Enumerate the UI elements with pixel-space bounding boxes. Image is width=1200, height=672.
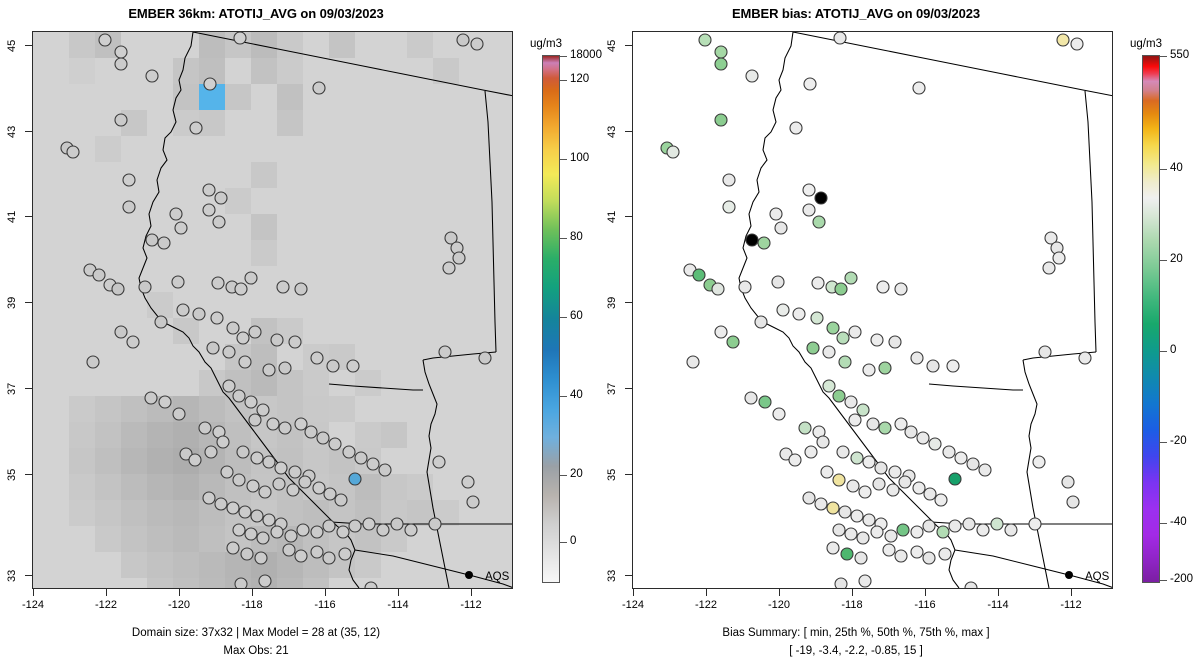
model-caption-line1: Domain size: 37x32 | Max Model = 28 at (… [0, 627, 512, 639]
bias-colorbar-unit: ug/m3 [1130, 38, 1162, 50]
map-plot-model[interactable]: AQS [32, 31, 513, 589]
y-tick-label-bias-35: 35 [606, 465, 618, 481]
map-plot-bias[interactable]: AQS [632, 31, 1113, 589]
x-tick-m112 [471, 589, 472, 596]
aqs-legend-dot-bias [1065, 571, 1073, 579]
bias-cb-tick-0 [1159, 351, 1167, 352]
y-tick-43 [25, 131, 32, 132]
x-tick-bias-m114 [998, 589, 999, 596]
model-cb-label-80: 80 [570, 231, 583, 243]
model-map-svg: AQS [33, 32, 513, 589]
bias-cb-label-0: 0 [1170, 344, 1176, 356]
y-tick-label-43: 43 [6, 122, 18, 138]
bias-cb-label-550: 550 [1170, 49, 1189, 61]
y-tick-label-35: 35 [6, 465, 18, 481]
model-cb-tick-18000 [559, 56, 567, 57]
x-tick-label-bias-m112: -112 [1051, 599, 1091, 611]
panel-bias-title: EMBER bias: ATOTIJ_AVG on 09/03/2023 [600, 6, 1112, 21]
x-tick-bias-m112 [1071, 589, 1072, 596]
y-tick-label-bias-33: 33 [606, 566, 618, 582]
bias-cb-tick-550 [1159, 56, 1167, 57]
y-tick-bias-37 [625, 388, 632, 389]
aqs-legend-label: AQS [485, 571, 510, 583]
panel-model-title: EMBER 36km: ATOTIJ_AVG on 09/03/2023 [0, 6, 512, 21]
x-tick-label-bias-m120: -120 [759, 599, 799, 611]
x-tick-label-m124: -124 [13, 599, 53, 611]
y-tick-label-37: 37 [6, 379, 18, 395]
bias-colorbar-gradient [1143, 56, 1159, 582]
y-tick-39 [25, 302, 32, 303]
y-tick-label-45: 45 [6, 36, 18, 52]
y-tick-label-33: 33 [6, 566, 18, 582]
y-tick-label-41: 41 [6, 207, 18, 223]
x-tick-label-bias-m114: -114 [978, 599, 1018, 611]
raster-cells [69, 32, 459, 589]
x-tick-m116 [325, 589, 326, 596]
bias-cb-label-m200: -200 [1170, 573, 1193, 585]
y-tick-label-bias-37: 37 [606, 379, 618, 395]
model-cb-tick-80 [559, 238, 567, 239]
bias-colorbar-bar [1142, 55, 1160, 583]
bias-cb-tick-m40 [1159, 523, 1167, 524]
y-tick-bias-41 [625, 216, 632, 217]
x-tick-label-m118: -118 [232, 599, 272, 611]
model-colorbar-gradient [543, 56, 559, 582]
panel-model: EMBER 36km: ATOTIJ_AVG on 09/03/2023 45 … [0, 0, 600, 672]
x-tick-m120 [179, 589, 180, 596]
x-tick-label-bias-m122: -122 [686, 599, 726, 611]
x-tick-m114 [398, 589, 399, 596]
bias-cb-label-40: 40 [1170, 162, 1183, 174]
x-tick-m124 [33, 589, 34, 596]
aqs-legend-label-bias: AQS [1085, 571, 1110, 583]
bias-map-svg: AQS [633, 32, 1113, 589]
model-cb-tick-40 [559, 396, 567, 397]
model-cb-label-100: 100 [570, 152, 589, 164]
y-tick-bias-35 [625, 474, 632, 475]
model-cb-label-60: 60 [570, 310, 583, 322]
y-tick-label-bias-41: 41 [606, 207, 618, 223]
bias-cb-label-m20: -20 [1170, 435, 1187, 447]
y-tick-bias-33 [625, 575, 632, 576]
model-colorbar-bar [542, 55, 560, 583]
bias-cb-tick-40 [1159, 169, 1167, 170]
aqs-legend-marker-group [465, 571, 473, 579]
x-tick-label-bias-m118: -118 [832, 599, 872, 611]
bias-caption-line1: Bias Summary: [ min, 25th %, 50th %, 75t… [600, 627, 1112, 639]
y-tick-37 [25, 388, 32, 389]
model-cb-label-120: 120 [570, 73, 589, 85]
y-tick-label-bias-39: 39 [606, 293, 618, 309]
x-tick-bias-m116 [925, 589, 926, 596]
y-tick-45 [25, 45, 32, 46]
model-cb-tick-100 [559, 159, 567, 160]
x-tick-m122 [106, 589, 107, 596]
y-tick-label-39: 39 [6, 293, 18, 309]
model-cb-tick-120 [559, 80, 567, 81]
aqs-legend-dot [465, 571, 473, 579]
y-tick-bias-43 [625, 131, 632, 132]
y-tick-label-bias-45: 45 [606, 36, 618, 52]
y-tick-bias-39 [625, 302, 632, 303]
bias-site-markers [661, 32, 1091, 589]
figure-canvas: EMBER 36km: ATOTIJ_AVG on 09/03/2023 45 … [0, 0, 1200, 672]
bias-caption-line2: [ -19, -3.4, -2.2, -0.85, 15 ] [600, 645, 1112, 657]
model-cb-label-0: 0 [570, 535, 576, 547]
x-tick-bias-m124 [633, 589, 634, 596]
x-tick-bias-m120 [779, 589, 780, 596]
x-tick-label-bias-m116: -116 [905, 599, 945, 611]
x-tick-label-bias-m124: -124 [613, 599, 653, 611]
y-tick-41 [25, 216, 32, 217]
bias-cb-tick-20 [1159, 260, 1167, 261]
model-colorbar-unit: ug/m3 [530, 38, 562, 50]
x-tick-m118 [252, 589, 253, 596]
y-tick-bias-45 [625, 45, 632, 46]
model-cb-label-40: 40 [570, 389, 583, 401]
aqs-legend-marker-group-bias [1065, 571, 1073, 579]
x-tick-label-m116: -116 [305, 599, 345, 611]
x-tick-bias-m118 [852, 589, 853, 596]
model-cb-label-18000: 18000 [570, 49, 602, 61]
bias-cb-label-m40: -40 [1170, 516, 1187, 528]
bias-cb-tick-m200 [1159, 580, 1167, 581]
y-tick-label-bias-43: 43 [606, 122, 618, 138]
model-cb-tick-20 [559, 475, 567, 476]
model-cb-label-20: 20 [570, 468, 583, 480]
x-tick-label-m112: -112 [451, 599, 491, 611]
x-tick-label-m114: -114 [378, 599, 418, 611]
y-tick-33 [25, 575, 32, 576]
x-tick-label-m122: -122 [86, 599, 126, 611]
bias-cb-tick-m20 [1159, 442, 1167, 443]
panel-bias: EMBER bias: ATOTIJ_AVG on 09/03/2023 45 … [600, 0, 1200, 672]
model-raster-grid: AQS [33, 32, 512, 588]
bias-cb-label-20: 20 [1170, 253, 1183, 265]
x-tick-label-m120: -120 [159, 599, 199, 611]
model-cb-tick-60 [559, 317, 567, 318]
bias-map-area: AQS [633, 32, 1112, 588]
model-cb-tick-0 [559, 542, 567, 543]
y-tick-35 [25, 474, 32, 475]
model-caption-line2: Max Obs: 21 [0, 645, 512, 657]
x-tick-bias-m122 [706, 589, 707, 596]
